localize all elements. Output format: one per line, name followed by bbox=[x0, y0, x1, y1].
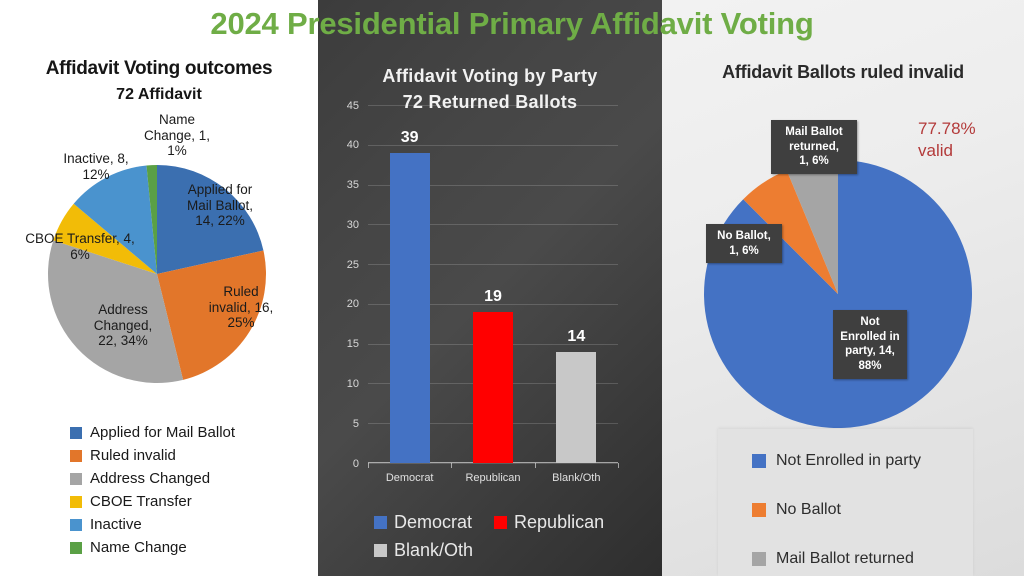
bar-value-label: 39 bbox=[375, 129, 445, 147]
left-slice-label-name-change: NameChange, 1,1% bbox=[134, 112, 220, 159]
legend-swatch-icon bbox=[374, 544, 387, 557]
gridline: 0 bbox=[368, 463, 618, 464]
legend-swatch-icon bbox=[494, 516, 507, 529]
legend-swatch-icon bbox=[70, 496, 82, 508]
x-axis-category-label: Blank/Oth bbox=[531, 472, 621, 484]
bar-republican[interactable] bbox=[473, 312, 513, 463]
x-axis-category-label: Democrat bbox=[365, 472, 455, 484]
legend-swatch-icon bbox=[70, 542, 82, 554]
legend-swatch-icon bbox=[70, 473, 82, 485]
left-slice-label-cboe-transfer: CBOE Transfer, 4,6% bbox=[8, 231, 152, 262]
legend-item-mail-ballot-returned[interactable]: Mail Ballot returned bbox=[752, 551, 914, 567]
legend-swatch-icon bbox=[752, 552, 766, 566]
right-pie-chart bbox=[703, 159, 973, 429]
legend-item-ruled-invalid[interactable]: Ruled invalid bbox=[70, 444, 310, 467]
right-chart-legend: Not Enrolled in party No Ballot Mail Bal… bbox=[718, 429, 973, 576]
bar-blank-oth[interactable] bbox=[556, 352, 596, 463]
legend-label: CBOE Transfer bbox=[90, 494, 192, 509]
legend-label: Blank/Oth bbox=[394, 541, 473, 559]
legend-item-name-change[interactable]: Name Change bbox=[70, 536, 310, 559]
left-slice-label-ruled-invalid: Ruledinvalid, 16,25% bbox=[195, 284, 287, 331]
middle-chart-subtitle: 72 Returned Ballots bbox=[318, 92, 662, 113]
legend-swatch-icon bbox=[752, 503, 766, 517]
legend-label: No Ballot bbox=[776, 502, 841, 518]
x-axis-tick bbox=[368, 463, 369, 468]
y-axis-tick-label: 40 bbox=[347, 139, 359, 151]
x-axis-tick bbox=[451, 463, 452, 468]
legend-label: Republican bbox=[514, 513, 604, 531]
legend-item-not-enrolled-in-party[interactable]: Not Enrolled in party bbox=[752, 453, 921, 469]
y-axis-tick-label: 25 bbox=[347, 259, 359, 271]
y-axis-tick-label: 35 bbox=[347, 179, 359, 191]
legend-item-democrat[interactable]: Democrat bbox=[374, 513, 472, 531]
left-slice-label-applied: Applied forMail Ballot,14, 22% bbox=[170, 182, 270, 229]
legend-item-address-changed[interactable]: Address Changed bbox=[70, 467, 310, 490]
left-chart-title: Affidavit Voting outcomes bbox=[0, 58, 318, 80]
legend-item-cboe-transfer[interactable]: CBOE Transfer bbox=[70, 490, 310, 513]
legend-label: Ruled invalid bbox=[90, 448, 176, 463]
legend-label: Democrat bbox=[394, 513, 472, 531]
legend-item-blank-oth[interactable]: Blank/Oth bbox=[374, 541, 473, 559]
bar-value-label: 14 bbox=[541, 328, 611, 346]
left-slice-label-address-changed: AddressChanged,22, 34% bbox=[77, 302, 169, 349]
right-chart-title: Affidavit Ballots ruled invalid bbox=[662, 62, 1024, 83]
legend-swatch-icon bbox=[752, 454, 766, 468]
legend-item-no-ballot[interactable]: No Ballot bbox=[752, 502, 841, 518]
bar-chart-plot-area: 051015202530354045391914 bbox=[368, 105, 618, 463]
bar-democrat[interactable] bbox=[390, 153, 430, 463]
x-axis-tick bbox=[535, 463, 536, 468]
legend-label: Not Enrolled in party bbox=[776, 453, 921, 469]
legend-label: Applied for Mail Ballot bbox=[90, 425, 235, 440]
right-callout-not-enrolled: NotEnrolled inparty, 14,88% bbox=[833, 310, 907, 379]
valid-percentage-label: valid bbox=[918, 140, 1018, 162]
middle-chart-legend: Democrat Republican Blank/Oth bbox=[374, 508, 654, 564]
legend-item-inactive[interactable]: Inactive bbox=[70, 513, 310, 536]
left-chart-subtitle: 72 Affidavit bbox=[0, 86, 318, 104]
y-axis-tick-label: 20 bbox=[347, 298, 359, 310]
y-axis-tick-label: 5 bbox=[353, 418, 359, 430]
legend-swatch-icon bbox=[70, 450, 82, 462]
legend-label: Address Changed bbox=[90, 471, 210, 486]
y-axis-tick-label: 0 bbox=[353, 458, 359, 470]
legend-swatch-icon bbox=[70, 427, 82, 439]
y-axis-tick-label: 15 bbox=[347, 338, 359, 350]
legend-item-republican[interactable]: Republican bbox=[494, 513, 604, 531]
legend-swatch-icon bbox=[70, 519, 82, 531]
x-axis-tick bbox=[618, 463, 619, 468]
valid-percentage-value: 77.78% bbox=[918, 118, 1018, 140]
legend-label: Mail Ballot returned bbox=[776, 551, 914, 567]
legend-swatch-icon bbox=[374, 516, 387, 529]
legend-label: Inactive bbox=[90, 517, 142, 532]
legend-label: Name Change bbox=[90, 540, 187, 555]
middle-chart-title: Affidavit Voting by Party bbox=[318, 66, 662, 87]
bar-value-label: 19 bbox=[458, 288, 528, 306]
x-axis-category-label: Republican bbox=[448, 472, 538, 484]
y-axis-tick-label: 30 bbox=[347, 219, 359, 231]
valid-percentage-note: 77.78% valid bbox=[918, 118, 1018, 162]
left-chart-legend: Applied for Mail Ballot Ruled invalid Ad… bbox=[70, 421, 310, 559]
legend-item-applied-for-mail-ballot[interactable]: Applied for Mail Ballot bbox=[70, 421, 310, 444]
infographic-slide: 2024 Presidential Primary Affidavit Voti… bbox=[0, 0, 1024, 576]
page-title: 2024 Presidential Primary Affidavit Voti… bbox=[0, 6, 1024, 42]
right-callout-no-ballot: No Ballot,1, 6% bbox=[706, 224, 782, 263]
y-axis-tick-label: 10 bbox=[347, 378, 359, 390]
right-callout-mail-ballot-returned: Mail Ballotreturned,1, 6% bbox=[771, 120, 857, 174]
